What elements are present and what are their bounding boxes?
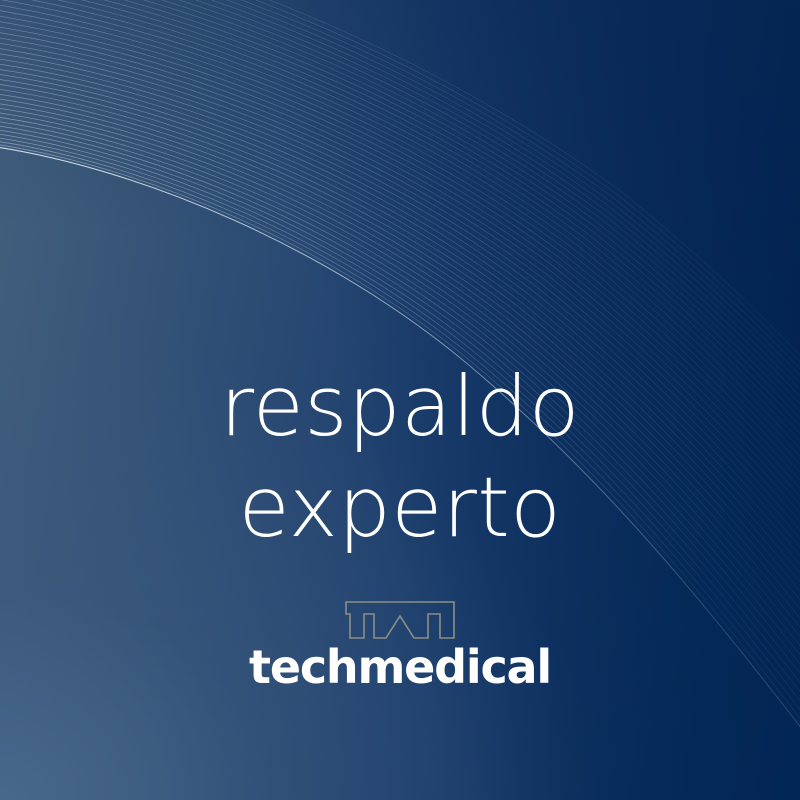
headline-line-2: experto [0, 457, 800, 558]
content-layer: respaldo experto techmedical [0, 0, 800, 800]
promo-card: respaldo experto techmedical [0, 0, 800, 800]
headline-line-1: respaldo [0, 356, 800, 457]
page-title: respaldo experto [0, 356, 800, 559]
brand-wordmark: techmedical [249, 644, 551, 690]
brand-logo: techmedical [0, 600, 800, 690]
tm-monogram-icon [344, 600, 456, 640]
